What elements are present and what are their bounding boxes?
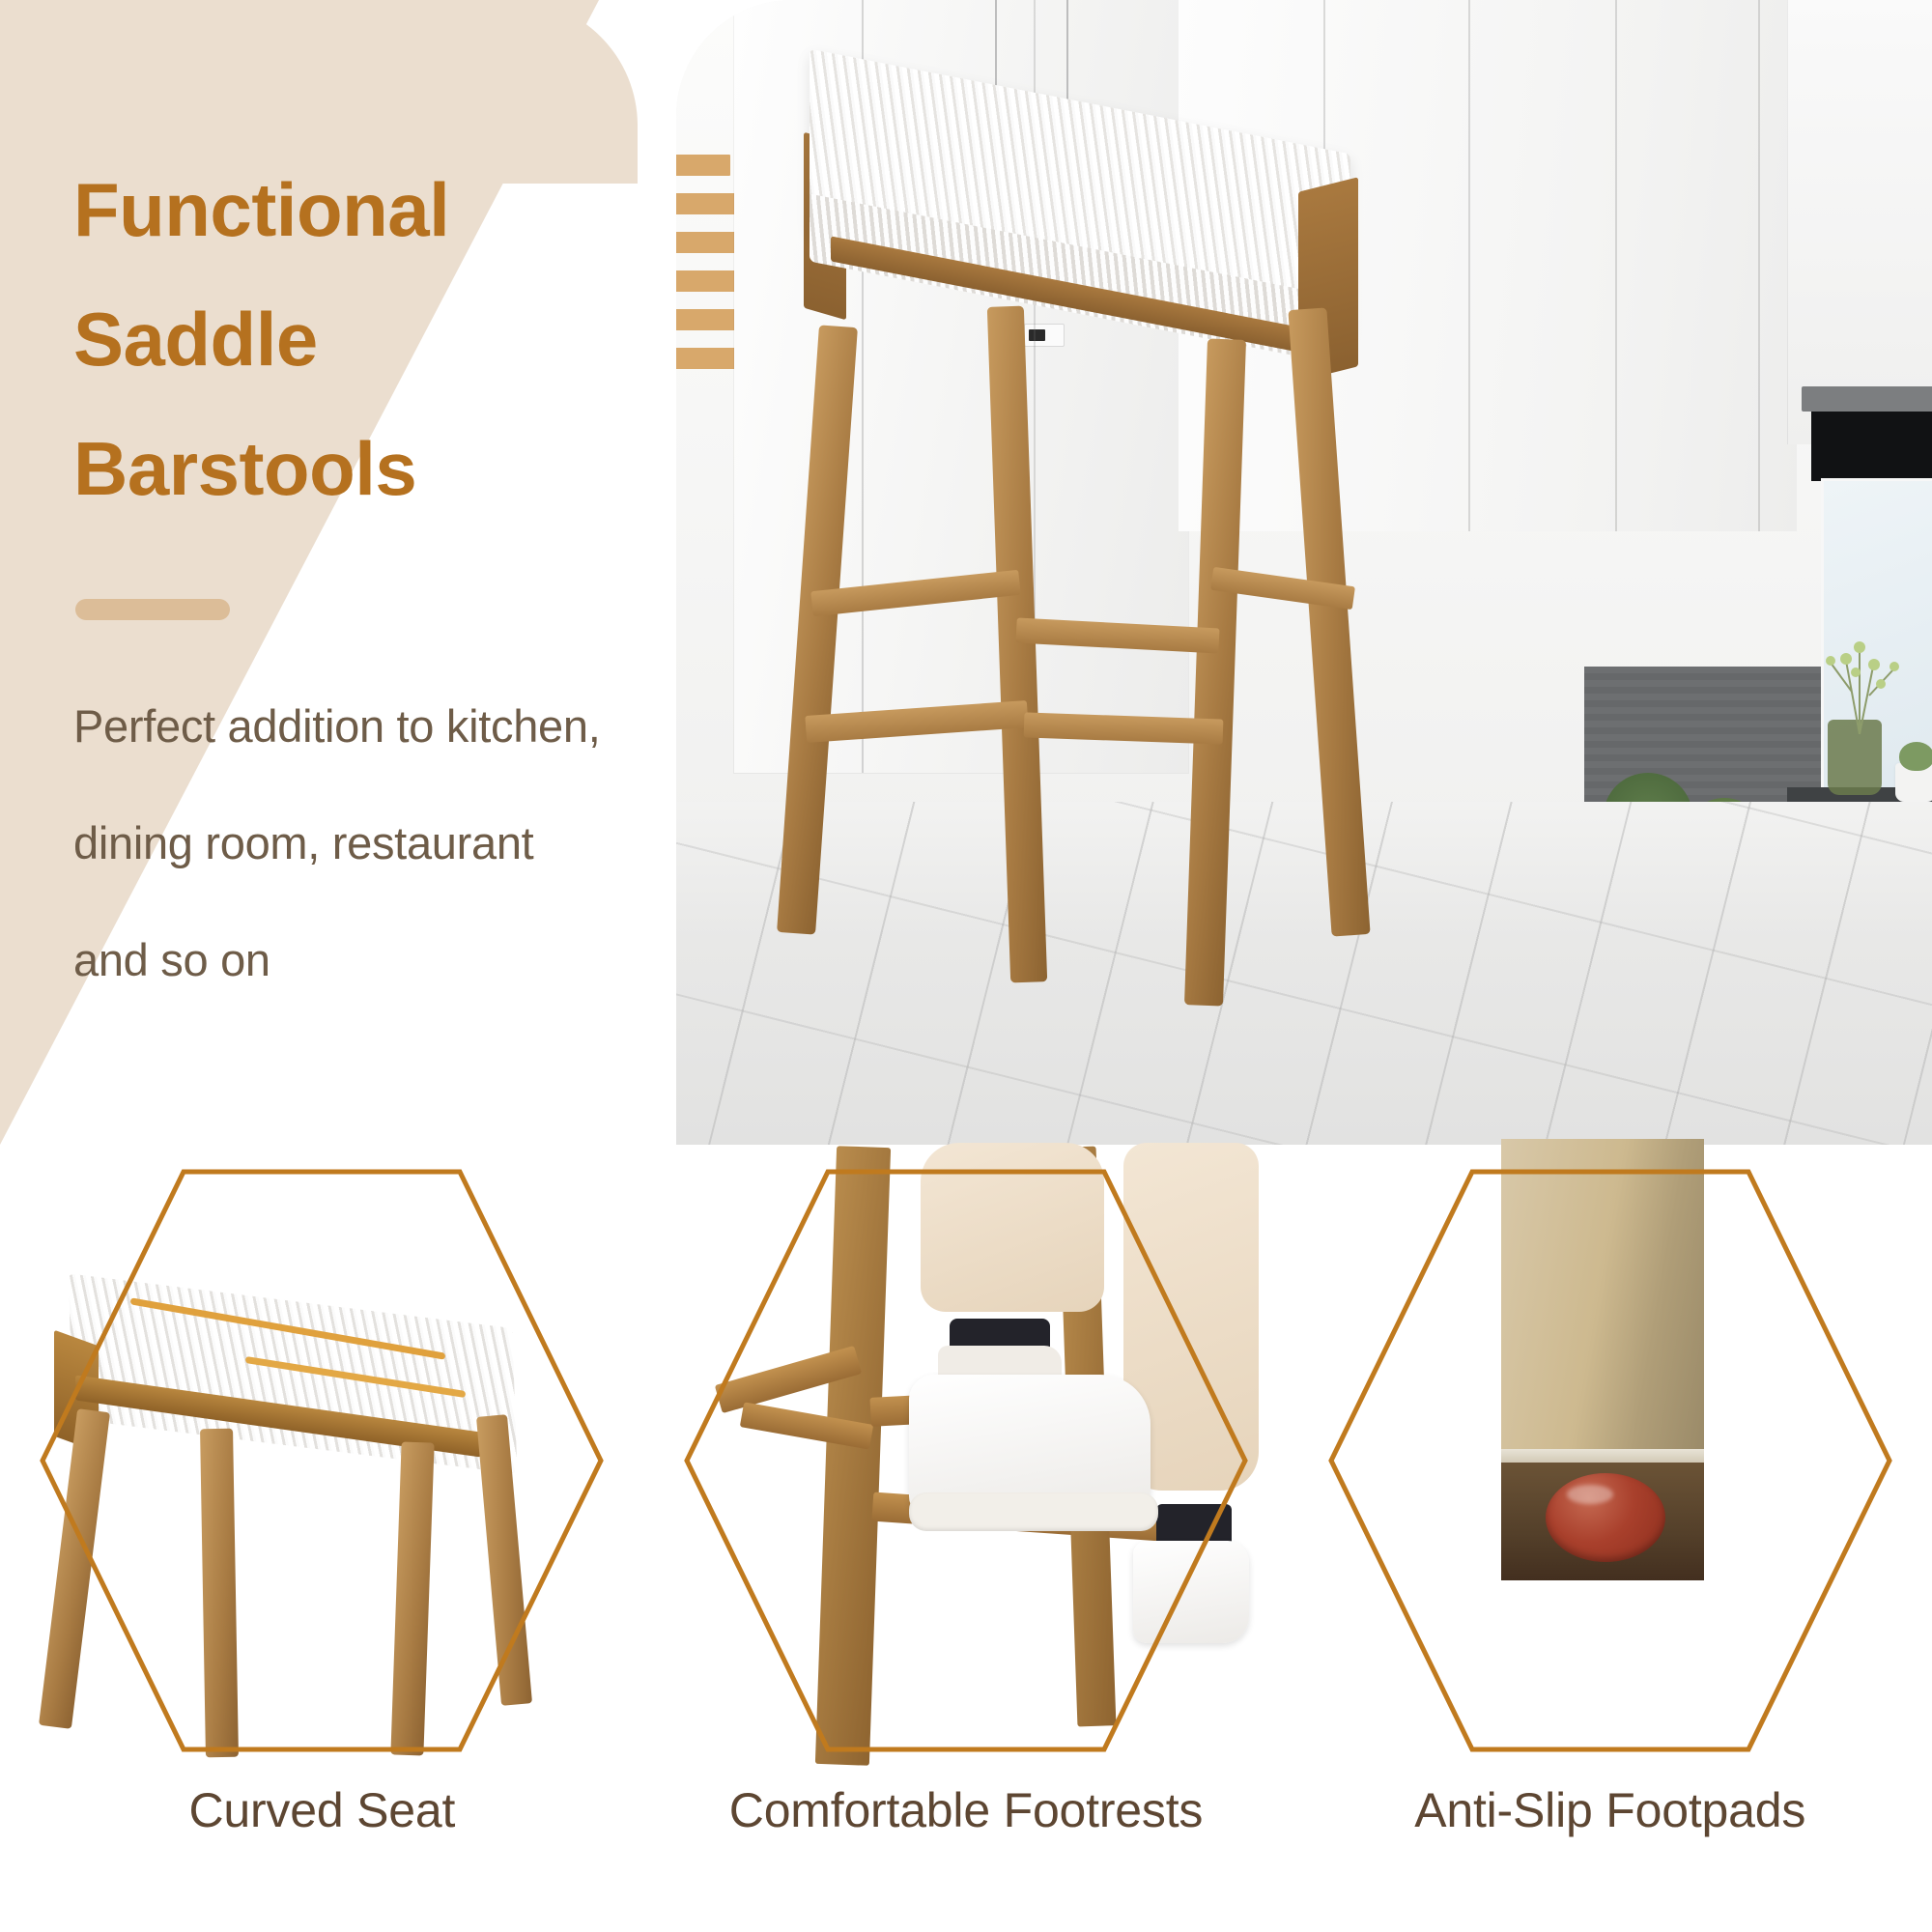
leg-back-left: [987, 306, 1047, 983]
hexagon-panel-1: [37, 1166, 607, 1755]
subtitle-line-2: dining room, restaurant: [73, 820, 614, 866]
hexagon-frame-2: [681, 1166, 1251, 1755]
page-title-line1: Functional: [73, 145, 614, 274]
feature-anti-slip-footpads: Anti-Slip Footpads: [1288, 1145, 1932, 1932]
feature-caption-3: Anti-Slip Footpads: [1288, 1782, 1932, 1838]
feature-comfortable-footrests: Comfortable Footrests: [644, 1145, 1289, 1932]
footrest-lower-left: [805, 700, 1028, 743]
kitchen-scene: [676, 0, 1932, 1145]
twig-arrangement: [1802, 599, 1918, 734]
feature-caption-2: Comfortable Footrests: [644, 1782, 1289, 1838]
hero-section: Functional Saddle Barstools Perfect addi…: [0, 0, 1932, 1145]
hexagon-panel-3: [1325, 1166, 1895, 1755]
page-title-line2: Saddle Barstools: [73, 274, 614, 533]
barstool-product: [792, 101, 1507, 1087]
range-hood-glass: [1811, 412, 1932, 481]
hero-copy: Functional Saddle Barstools Perfect addi…: [73, 145, 614, 982]
leg-back-right: [1288, 307, 1370, 936]
hero-photo: [676, 0, 1932, 1145]
subtitle-line-1: Perfect addition to kitchen,: [73, 703, 614, 749]
product-infographic: Functional Saddle Barstools Perfect addi…: [0, 0, 1932, 1932]
feature-caption-1: Curved Seat: [0, 1782, 644, 1838]
side-cabinet: [1787, 0, 1932, 444]
feature-row: Curved Seat: [0, 1145, 1932, 1932]
footrest-upper-left: [810, 570, 1021, 616]
feature-curved-seat: Curved Seat: [0, 1145, 644, 1932]
footrest-center: [1015, 618, 1219, 654]
hexagon-frame-1: [37, 1166, 607, 1755]
subtitle-line-3: and so on: [73, 937, 614, 982]
succulent: [1899, 742, 1932, 771]
range-hood: [1802, 386, 1932, 412]
title-divider: [75, 599, 230, 620]
twig-svg: [1802, 599, 1918, 734]
leg-front-right: [1184, 339, 1246, 1007]
hexagon-frame-3: [1325, 1166, 1895, 1755]
hexagon-panel-2: [681, 1166, 1251, 1755]
